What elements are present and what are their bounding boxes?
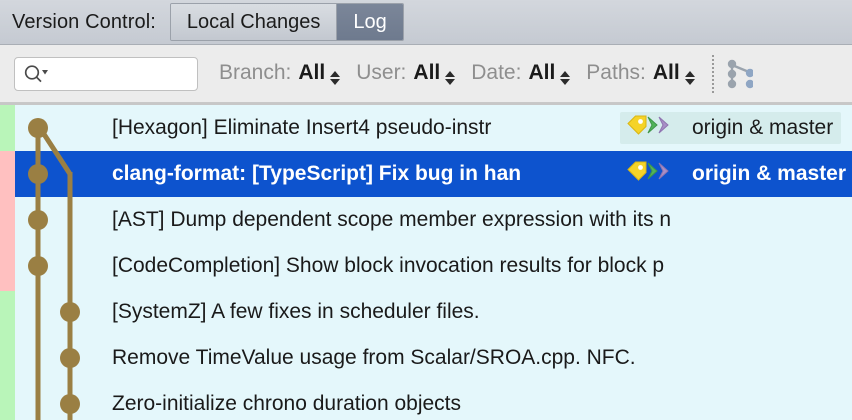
change-status-gutter — [0, 103, 15, 420]
chevron-updown-icon[interactable] — [685, 71, 695, 85]
commit-message: Remove TimeValue usage from Scalar/SROA.… — [112, 335, 636, 381]
commit-row[interactable]: [SystemZ] A few fixes in scheduler files… — [0, 289, 852, 335]
search-box[interactable] — [14, 57, 198, 91]
gutter-segment — [0, 151, 15, 291]
filter-branch-label: Branch: — [219, 61, 291, 85]
tool-window-title: Version Control: — [0, 0, 170, 44]
filter-paths-value: All — [653, 61, 680, 85]
commit-message: [AST] Dump dependent scope member expres… — [112, 197, 671, 243]
commit-row[interactable]: Remove TimeValue usage from Scalar/SROA.… — [0, 335, 852, 381]
filter-branch-value: All — [298, 61, 325, 85]
tab-log[interactable]: Log — [336, 4, 402, 40]
filter-user-value: All — [413, 61, 440, 85]
chevron-updown-icon[interactable] — [445, 71, 455, 85]
search-input[interactable] — [49, 64, 197, 84]
toolbar-drag-handle[interactable] — [712, 55, 714, 93]
commit-message: [CodeCompletion] Show block invocation r… — [112, 243, 664, 289]
commit-message: Zero-initialize chrono duration objects — [112, 381, 461, 420]
filter-user-label: User: — [356, 61, 406, 85]
branch-graph-icon[interactable] — [720, 54, 756, 94]
filter-paths[interactable]: Paths: All — [579, 61, 701, 87]
commit-refs[interactable]: origin & master — [620, 112, 841, 144]
search-icon[interactable] — [23, 64, 49, 84]
filter-date-label: Date: — [471, 61, 521, 85]
commit-row[interactable]: Zero-initialize chrono duration objects — [0, 381, 852, 420]
tag-icons — [626, 160, 684, 189]
commit-message: [Hexagon] Eliminate Insert4 pseudo-instr — [112, 105, 491, 151]
ref-label: origin & master — [692, 116, 833, 140]
tab-local-changes[interactable]: Local Changes — [171, 4, 336, 40]
filter-date[interactable]: Date: All — [464, 61, 577, 87]
filter-user[interactable]: User: All — [349, 61, 462, 87]
tool-window-tabbar: Version Control: Local Changes Log — [0, 0, 852, 45]
gutter-segment — [0, 291, 15, 420]
commit-row[interactable]: [CodeCompletion] Show block invocation r… — [0, 243, 852, 289]
filter-paths-label: Paths: — [586, 61, 646, 85]
commit-message: clang-format: [TypeScript] Fix bug in ha… — [112, 151, 521, 197]
filter-date-value: All — [528, 61, 555, 85]
commit-rows: [Hexagon] Eliminate Insert4 pseudo-instr… — [0, 105, 852, 420]
tag-icons — [626, 114, 684, 143]
version-control-log-panel: Version Control: Local Changes Log Branc… — [0, 0, 852, 420]
commit-row[interactable]: [Hexagon] Eliminate Insert4 pseudo-instr… — [0, 105, 852, 151]
filter-branch[interactable]: Branch: All — [212, 61, 347, 87]
chevron-updown-icon[interactable] — [560, 71, 570, 85]
commit-refs[interactable]: origin & master — [620, 158, 852, 190]
commit-row[interactable]: clang-format: [TypeScript] Fix bug in ha… — [0, 151, 852, 197]
commit-row[interactable]: [AST] Dump dependent scope member expres… — [0, 197, 852, 243]
tab-group: Local Changes Log — [170, 3, 404, 41]
ref-label: origin & master — [692, 162, 846, 186]
commit-log-list[interactable]: [Hexagon] Eliminate Insert4 pseudo-instr… — [0, 103, 852, 420]
filter-group: Branch: All User: All Date: All Paths: A… — [212, 61, 702, 87]
log-filter-toolbar: Branch: All User: All Date: All Paths: A… — [0, 45, 852, 103]
commit-message: [SystemZ] A few fixes in scheduler files… — [112, 289, 480, 335]
chevron-updown-icon[interactable] — [330, 71, 340, 85]
gutter-segment — [0, 105, 15, 151]
